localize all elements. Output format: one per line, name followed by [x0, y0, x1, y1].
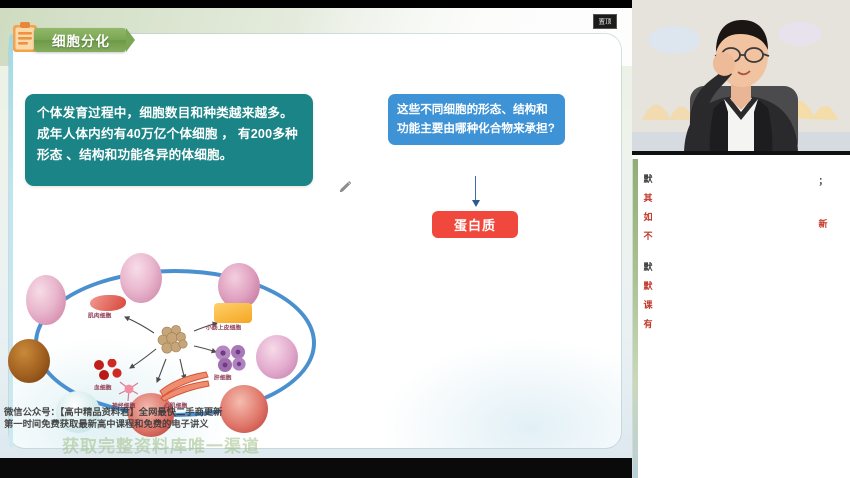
answer-text: 蛋白质	[454, 215, 496, 234]
notes-right-column: ； 新	[815, 173, 831, 263]
question-text: 这些不同细胞的形态、结构和功能主要由哪种化合物来承担?	[397, 100, 556, 138]
notes-char: 有	[643, 316, 652, 335]
label-liver: 肝细胞	[214, 374, 232, 382]
pencil-cursor-icon	[338, 180, 352, 194]
teacher-webcam[interactable]	[632, 0, 850, 155]
notes-char: 默	[643, 171, 652, 190]
statement-text: 个体发育过程中，细胞数目和种类越来越多。成年人体内约有40万亿个体细胞 ， 有2…	[37, 103, 301, 166]
statement-box: 个体发育过程中，细胞数目和种类越来越多。成年人体内约有40万亿个体细胞 ， 有2…	[25, 94, 313, 186]
flow-arrow-icon	[475, 176, 477, 208]
watermark-line-1: 微信公众号：【高中精品资料君】全网最快二手商更新	[4, 406, 424, 418]
notes-left-column: 默 其 如 不 默 默 课 有	[641, 171, 655, 356]
label-intestine: 小肠上皮细胞	[206, 324, 241, 332]
cell-cardiac-muscle	[158, 369, 210, 401]
presentation-slide: 细胞分化 置顶 个体发育过程中，细胞数目和种类越来越多。成年人体内约有40万亿个…	[0, 8, 632, 458]
panel-green-edge	[633, 159, 638, 478]
slide-title-chip: 细胞分化	[34, 28, 126, 52]
notes-char: 新	[818, 216, 827, 235]
cell-intestine-epithelium	[214, 303, 252, 323]
cell-muscle	[90, 295, 126, 311]
notes-char: 默	[643, 259, 652, 278]
watermark-headline: 获取完整资料库唯一渠道	[62, 432, 260, 457]
letterbox-top	[0, 0, 632, 8]
letterbox-bottom	[0, 458, 632, 478]
notes-panel[interactable]: 默 其 如 不 默 默 课 有 ； 新	[632, 159, 850, 478]
notes-char: 默	[643, 278, 652, 297]
watermark-line-2: 第一时间免费获取最新高中课程和免费的电子讲义	[4, 418, 424, 430]
watermark-lines: 微信公众号：【高中精品资料君】全网最快二手商更新 第一时间免费获取最新高中课程和…	[4, 406, 424, 431]
question-box: 这些不同细胞的形态、结构和功能主要由哪种化合物来承担?	[388, 94, 565, 145]
label-blood: 血细胞	[94, 384, 112, 392]
video-bottom-bar	[632, 151, 850, 155]
right-column: 默 其 如 不 默 默 课 有 ； 新	[632, 0, 850, 478]
notes-char: ；	[818, 173, 827, 192]
pin-badge[interactable]: 置顶	[593, 14, 617, 29]
cell-nerve	[116, 377, 142, 403]
notes-char: 课	[643, 297, 652, 316]
notes-char: 不	[643, 228, 652, 247]
label-muscle: 肌肉细胞	[88, 312, 111, 320]
notes-char: 其	[643, 190, 652, 209]
app-root: 细胞分化 置顶 个体发育过程中，细胞数目和种类越来越多。成年人体内约有40万亿个…	[0, 0, 850, 478]
screen-share-area: 细胞分化 置顶 个体发育过程中，细胞数目和种类越来越多。成年人体内约有40万亿个…	[0, 0, 632, 478]
pin-badge-label: 置顶	[599, 18, 612, 25]
answer-box: 蛋白质	[432, 211, 518, 238]
page-title: 细胞分化	[52, 30, 110, 50]
notes-char: 如	[643, 209, 652, 228]
cell-liver	[214, 345, 248, 373]
